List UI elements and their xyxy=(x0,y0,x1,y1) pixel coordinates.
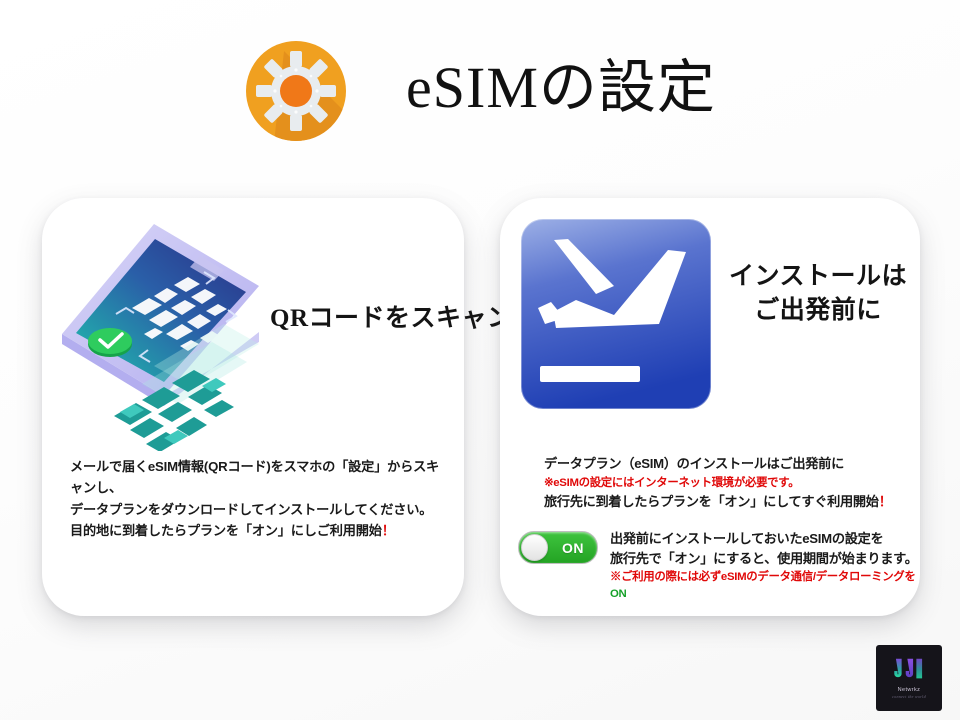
install-body-line-1: データプラン（eSIM）のインストールはご出発前に xyxy=(544,454,914,475)
toggle-on-label: ON xyxy=(562,540,584,556)
install-heading-line-1: インストールは xyxy=(722,260,914,294)
slide-header: eSIMの設定 xyxy=(0,26,960,156)
install-heading: インストールは ご出発前に xyxy=(722,260,914,328)
qr-scan-heading: QRコードをスキャン xyxy=(270,298,470,334)
toggle-desc-line-1: 出発前にインストールしておいたeSIMの設定を xyxy=(610,529,918,549)
qr-body-line-3: 目的地に到着したらプランを「オン」にしご利用開始！ xyxy=(70,520,442,541)
esim-on-toggle[interactable]: ON xyxy=(518,531,598,564)
jj-monogram-icon xyxy=(891,657,927,685)
toggle-knob xyxy=(521,534,548,561)
exclamation-mark: ！ xyxy=(879,494,892,509)
gear-icon xyxy=(244,39,348,143)
logo-name: Netwrkz xyxy=(898,687,921,693)
card-install-before-departure[interactable]: インストールは ご出発前に データプラン（eSIM）のインストールはご出発前に … xyxy=(500,198,920,616)
page-title: eSIMの設定 xyxy=(406,59,716,123)
brand-logo[interactable]: Netwrkz connect the world xyxy=(876,645,942,711)
exclamation-mark: ！ xyxy=(382,523,395,538)
install-body: データプラン（eSIM）のインストールはご出発前に ※eSIMの設定にはインター… xyxy=(544,454,914,513)
logo-tagline: connect the world xyxy=(892,694,926,699)
toggle-desc-line-3-warning: ※ご利用の際には必ずeSIMのデータ通信/データローミングをON xyxy=(610,569,918,604)
slide-canvas: eSIMの設定 xyxy=(0,0,960,720)
install-body-line-3: 旅行先に到着したらプランを「オン」にしてすぐ利用開始！ xyxy=(544,492,914,513)
install-heading-line-2: ご出発前に xyxy=(722,294,914,328)
toggle-description: 出発前にインストールしておいたeSIMの設定を 旅行先で「オン」にすると、使用期… xyxy=(610,528,918,604)
airplane-departure-icon xyxy=(518,216,714,412)
card-qr-scan[interactable]: QRコードをスキャン メールで届くeSIM情報(QRコード)をスマホの「設定」か… xyxy=(42,198,464,616)
qr-body-line-2: データプランをダウンロードしてインストールしてください。 xyxy=(70,499,442,520)
phone-qr-scan-illustration xyxy=(54,216,304,451)
qr-body-line-1: メールで届くeSIM情報(QRコード)をスマホの「設定」からスキャンし、 xyxy=(70,456,442,499)
roaming-on-label: ON xyxy=(610,588,627,600)
install-body-line-2-warning: ※eSIMの設定にはインターネット環境が必要です。 xyxy=(544,475,914,493)
qr-scan-body: メールで届くeSIM情報(QRコード)をスマホの「設定」からスキャンし、 データ… xyxy=(70,456,442,542)
toggle-desc-line-2: 旅行先で「オン」にすると、使用期間が始まります。 xyxy=(610,549,918,569)
toggle-row: ON 出発前にインストールしておいたeSIMの設定を 旅行先で「オン」にすると、… xyxy=(518,528,918,604)
